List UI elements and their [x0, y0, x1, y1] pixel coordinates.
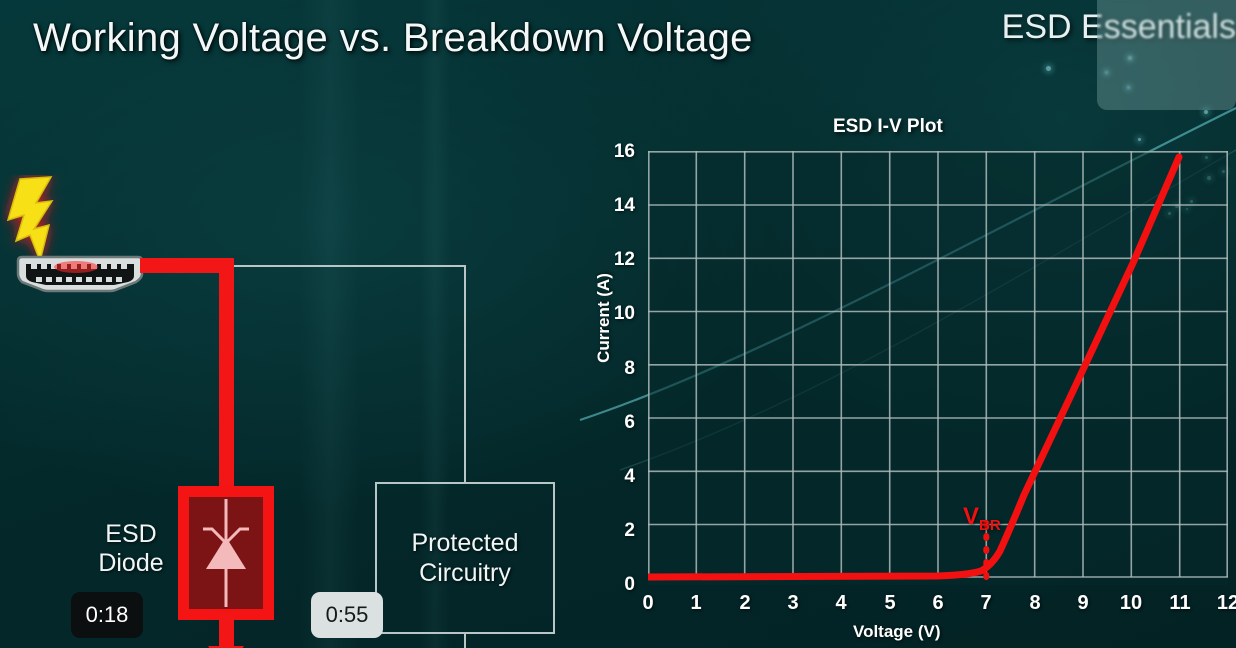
x-tick-label: 6 [923, 592, 953, 615]
diode-ground-wire [219, 614, 234, 648]
y-tick-label: 0 [601, 574, 635, 596]
hdmi-connector-icon [14, 255, 146, 293]
x-tick-label: 4 [826, 592, 856, 615]
protected-label-line1: Protected [411, 528, 518, 558]
x-tick-label: 8 [1020, 592, 1050, 615]
slide-canvas: Working Voltage vs. Breakdown Voltage ES… [0, 0, 1236, 648]
y-tick-label: 16 [601, 141, 635, 163]
x-tick-label: 3 [778, 592, 808, 615]
vbr-symbol: V [963, 503, 979, 530]
signal-wire-vertical [464, 265, 466, 483]
x-tick-label: 0 [633, 592, 663, 615]
breakdown-voltage-annotation: VBR [963, 503, 1001, 534]
chart-plot-svg [648, 151, 1228, 585]
esd-diode-label-line1: ESD [88, 520, 174, 549]
x-tick-label: 5 [875, 592, 905, 615]
x-tick-label: 1 [681, 592, 711, 615]
chart-x-axis-label: Voltage (V) [853, 622, 941, 642]
circuit-diagram: ESD Diode Protected Circuitry [0, 170, 600, 550]
y-tick-label: 6 [601, 412, 635, 434]
y-tick-label: 8 [601, 358, 635, 380]
chart-plot-area [648, 151, 1228, 585]
zener-diode-icon [189, 497, 263, 609]
x-tick-label: 11 [1165, 592, 1195, 615]
y-tick-label: 14 [601, 195, 635, 217]
chart-title: ESD I-V Plot [833, 116, 943, 138]
page-title: Working Voltage vs. Breakdown Voltage [33, 16, 753, 61]
y-tick-label: 2 [601, 520, 635, 542]
y-tick-label: 10 [601, 303, 635, 325]
protected-label-line2: Circuitry [411, 558, 518, 588]
x-tick-label: 9 [1068, 592, 1098, 615]
protected-circuitry-label: Protected Circuitry [411, 528, 518, 588]
bokeh-dot [1046, 66, 1051, 71]
like-survey-overlay[interactable]: Was this video [1097, 0, 1236, 110]
protected-ground-wire [464, 633, 466, 648]
x-tick-label: 7 [971, 592, 1001, 615]
timestamp-current[interactable]: 0:18 [71, 592, 143, 638]
surge-wire-vertical [219, 258, 234, 492]
x-tick-label: 2 [730, 592, 760, 615]
esd-iv-chart: ESD I-V Plot Current (A) Voltage (V) 16 … [575, 108, 1236, 648]
x-tick-label: 12 [1213, 592, 1236, 615]
esd-diode-label: ESD Diode [88, 520, 174, 578]
iv-curve-series [648, 157, 1179, 577]
y-tick-label: 12 [601, 249, 635, 271]
esd-diode-component [178, 486, 274, 620]
signal-wire-horizontal [226, 265, 466, 267]
timestamp-next[interactable]: 0:55 [311, 592, 383, 638]
protected-circuitry-component: Protected Circuitry [375, 482, 555, 634]
esd-diode-label-line2: Diode [88, 549, 174, 578]
y-tick-label: 4 [601, 466, 635, 488]
x-tick-label: 10 [1116, 592, 1146, 615]
vbr-subscript: BR [979, 517, 1001, 534]
